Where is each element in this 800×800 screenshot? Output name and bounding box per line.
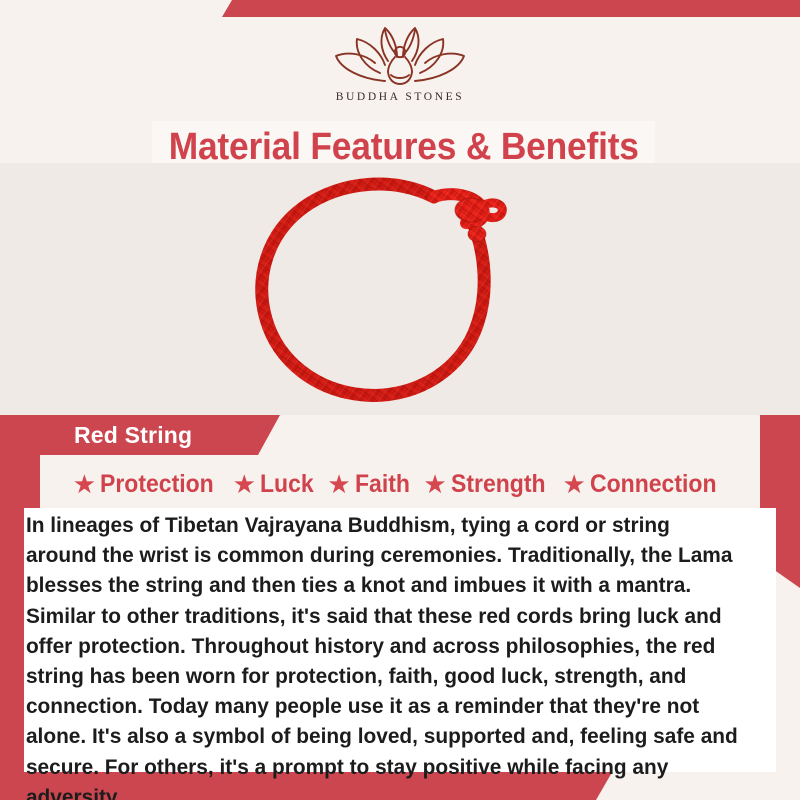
header: BUDDHA STONES Material Features & Benefi… xyxy=(0,17,800,163)
red-string-label-text: Red String xyxy=(74,422,192,449)
description-paragraph: In lineages of Tibetan Vajrayana Buddhis… xyxy=(24,508,753,800)
lotus-meditation-icon xyxy=(325,23,475,89)
benefit-label: Faith xyxy=(355,470,410,499)
benefit-label: Connection xyxy=(590,470,717,499)
benefit-item-luck: ★ Luck xyxy=(233,470,319,499)
product-photo-stage xyxy=(0,163,800,415)
benefit-item-connection: ★ Connection xyxy=(562,470,727,499)
infographic-page: BUDDHA STONES Material Features & Benefi… xyxy=(0,0,800,800)
benefit-label: Protection xyxy=(100,470,214,499)
star-icon: ★ xyxy=(423,471,446,497)
benefit-item-protection: ★ Protection xyxy=(73,470,224,499)
star-icon: ★ xyxy=(327,471,350,497)
brand-logo: BUDDHA STONES xyxy=(0,17,800,103)
star-icon: ★ xyxy=(233,471,256,497)
benefit-label: Strength xyxy=(451,470,546,499)
benefit-item-strength: ★ Strength xyxy=(423,470,553,499)
brand-name: BUDDHA STONES xyxy=(0,91,800,103)
benefit-label: Luck xyxy=(260,470,314,499)
star-icon: ★ xyxy=(73,471,96,497)
red-string-label-ribbon: Red String xyxy=(22,415,280,455)
star-icon: ★ xyxy=(562,471,585,497)
top-red-accent-bar xyxy=(222,0,800,17)
benefits-row: ★ Protection ★ Luck ★ Faith ★ Strength ★… xyxy=(0,462,800,506)
red-string-bracelet-image xyxy=(238,163,568,415)
benefit-item-faith: ★ Faith xyxy=(327,470,414,499)
description-panel: In lineages of Tibetan Vajrayana Buddhis… xyxy=(24,508,776,772)
